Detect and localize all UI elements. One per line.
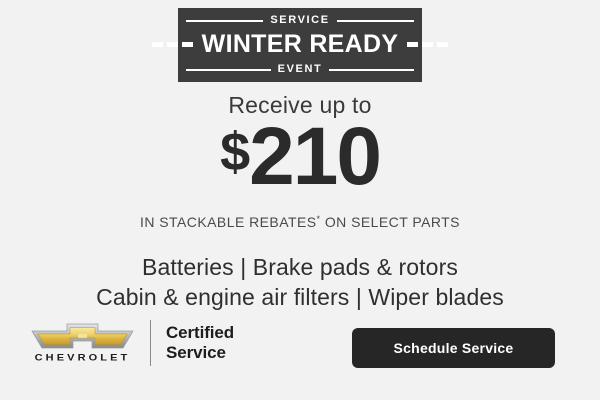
banner-kicker-top: SERVICE	[270, 15, 329, 26]
chevrolet-wordmark: CHEVROLET	[35, 353, 131, 362]
banner-kicker-bottom: EVENT	[278, 64, 323, 75]
amount-value: 210	[249, 111, 380, 202]
chevrolet-bowtie-icon	[30, 323, 135, 349]
rebate-disclaimer-line: IN STACKABLE REBATES* ON SELECT PARTS	[0, 215, 600, 229]
parts-line-1: Batteries | Brake pads & rotors	[0, 252, 600, 282]
schedule-service-button[interactable]: Schedule Service	[352, 328, 555, 368]
banner-rule-left-bottom	[186, 69, 271, 71]
eligible-parts-list: Batteries | Brake pads & rotors Cabin & …	[0, 252, 600, 313]
banner-rule-right-bottom	[329, 69, 414, 71]
certified-line-2: Service	[166, 343, 234, 363]
chevrolet-certified-service-lockup: CHEVROLET Certified Service	[30, 320, 234, 366]
service-offer-ad: SERVICE WINTER READY EVENT Receive up to…	[0, 0, 600, 400]
banner-kicker-top-row: SERVICE	[178, 12, 422, 29]
banner-dashes-right-icon	[407, 42, 448, 47]
banner-rule-right	[337, 20, 414, 22]
lockup-divider	[150, 320, 151, 366]
offer-amount: $210	[0, 116, 600, 198]
certified-line-1: Certified	[166, 323, 234, 343]
rebate-text-before: IN STACKABLE REBATES	[140, 214, 317, 230]
parts-line-2: Cabin & engine air filters | Wiper blade…	[0, 282, 600, 312]
rebate-text-after: ON SELECT PARTS	[321, 214, 460, 230]
banner-rule-left	[186, 20, 263, 22]
banner-kicker-bottom-row: EVENT	[178, 61, 422, 78]
certified-service-label: Certified Service	[166, 323, 234, 363]
banner-title: WINTER READY	[202, 32, 399, 57]
chevrolet-brand-block: CHEVROLET	[30, 323, 135, 364]
banner-title-row: WINTER READY	[178, 29, 422, 61]
currency-symbol: $	[220, 122, 249, 182]
banner-dashes-left-icon	[152, 42, 193, 47]
winter-ready-event-banner: SERVICE WINTER READY EVENT	[178, 8, 422, 82]
